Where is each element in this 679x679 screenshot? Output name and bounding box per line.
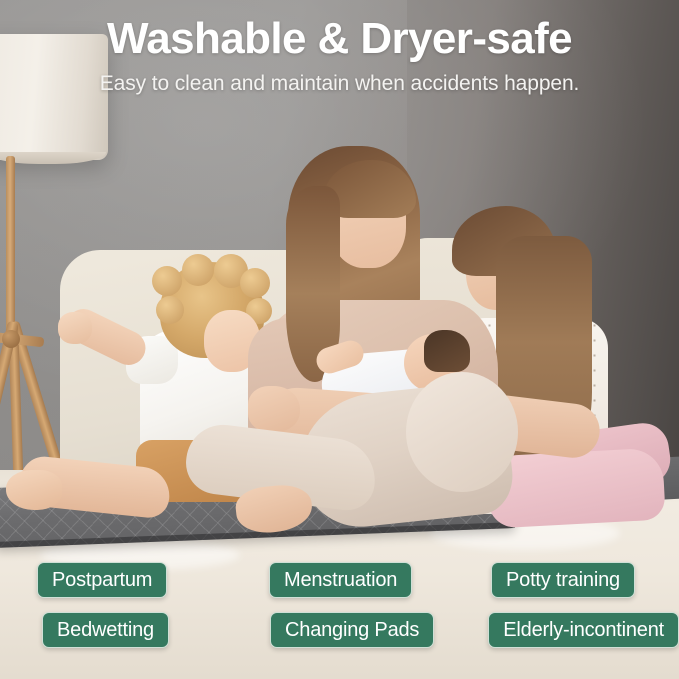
mother-knee	[406, 372, 518, 492]
feature-badges: Postpartum Menstruation Potty training B…	[0, 556, 679, 666]
badge-menstruation[interactable]: Menstruation	[269, 562, 412, 598]
headline-block: Washable & Dryer-safe Easy to clean and …	[0, 16, 679, 96]
mother-hand	[248, 386, 300, 432]
badge-changing-pads[interactable]: Changing Pads	[270, 612, 434, 648]
badge-row-1: Postpartum Menstruation Potty training	[0, 562, 679, 598]
badge-potty-training[interactable]: Potty training	[491, 562, 635, 598]
toddler-hand	[58, 312, 92, 344]
toddler-curl	[240, 268, 270, 298]
toddler-curl	[182, 254, 214, 286]
girl-legging	[486, 447, 666, 528]
toddler-curl	[156, 296, 184, 324]
lamp-joint	[2, 330, 20, 348]
toddler-curl	[152, 266, 182, 296]
badge-row-2: Bedwetting Changing Pads Elderly-inconti…	[0, 612, 679, 648]
page-title: Washable & Dryer-safe	[0, 16, 679, 63]
badge-postpartum[interactable]: Postpartum	[37, 562, 167, 598]
toddler-foot	[6, 470, 62, 510]
product-marketing-image: Washable & Dryer-safe Easy to clean and …	[0, 0, 679, 679]
badge-elderly-incontinent[interactable]: Elderly-incontinent	[488, 612, 679, 648]
badge-bedwetting[interactable]: Bedwetting	[42, 612, 169, 648]
newborn-hair	[424, 330, 470, 372]
page-subtitle: Easy to clean and maintain when accident…	[0, 72, 679, 96]
